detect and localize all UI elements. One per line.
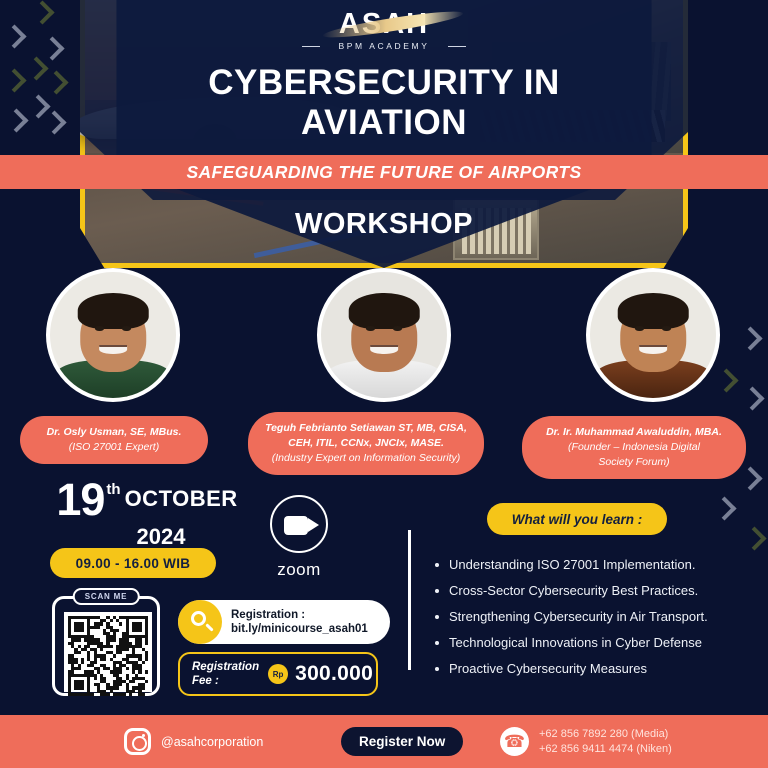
- platform-label: zoom: [266, 560, 332, 580]
- speaker-name: Dr. Osly Usman, SE, MBus.: [32, 425, 196, 440]
- phone-number-2[interactable]: +62 856 9411 4474 (Niken): [539, 742, 672, 757]
- section-divider: [408, 530, 411, 670]
- scan-me-badge: SCAN ME: [73, 588, 140, 605]
- registration-fee-box: Registration Fee : Rp 300.000: [178, 652, 378, 696]
- event-month: OCTOBER: [125, 486, 238, 512]
- instagram-block[interactable]: @asahcorporation: [124, 728, 263, 755]
- avatar: [590, 272, 716, 398]
- instagram-handle[interactable]: @asahcorporation: [161, 735, 263, 749]
- fee-label-line-2: Fee :: [192, 674, 259, 688]
- learning-outcomes-list: Understanding ISO 27001 Implementation. …: [432, 552, 762, 682]
- phone-number-1[interactable]: +62 856 7892 280 (Media): [539, 727, 672, 742]
- speaker-role: (Industry Expert on Information Security…: [260, 451, 472, 466]
- magnifier-icon: [178, 600, 222, 644]
- hero-text-block: ASAH BPM ACADEMY CYBERSECURITY IN AVIATI…: [80, 0, 688, 268]
- contact-block: +62 856 7892 280 (Media) +62 856 9411 44…: [500, 727, 672, 757]
- subtitle-banner: SAFEGUARDING THE FUTURE OF AIRPORTS: [0, 155, 768, 189]
- speaker-name: Teguh Febrianto Setiawan ST, MB, CISA,: [260, 421, 472, 436]
- instagram-icon[interactable]: [124, 728, 151, 755]
- event-date: 19 th OCTOBER 2024: [42, 478, 252, 550]
- speaker-role: (Founder – Indonesia Digital: [534, 440, 734, 455]
- event-type-label: WORKSHOP: [80, 208, 688, 241]
- learn-heading-badge: What will you learn :: [487, 503, 667, 535]
- event-day: 19: [56, 478, 104, 522]
- speaker-role-cont: Society Forum): [534, 455, 734, 470]
- title-line-1: CYBERSECURITY IN: [208, 63, 560, 103]
- subtitle-text: SAFEGUARDING THE FUTURE OF AIRPORTS: [186, 162, 581, 183]
- registration-link-pill[interactable]: Registration : bit.ly/minicourse_asah01: [178, 600, 390, 644]
- fee-amount: 300.000: [295, 662, 373, 686]
- title-line-2: AVIATION: [208, 103, 560, 143]
- speaker-photo-2: [317, 268, 451, 402]
- speaker-caption-2: Teguh Febrianto Setiawan ST, MB, CISA, C…: [248, 412, 484, 475]
- list-item: Proactive Cybersecurity Measures: [432, 656, 762, 682]
- speaker-caption-1: Dr. Osly Usman, SE, MBus. (ISO 27001 Exp…: [20, 416, 208, 464]
- qr-code-frame[interactable]: SCAN ME: [52, 596, 160, 696]
- avatar: [50, 272, 176, 398]
- video-camera-icon: [270, 495, 328, 553]
- event-time-badge: 09.00 - 16.00 WIB: [50, 548, 216, 578]
- speaker-photo-3: [586, 268, 720, 402]
- list-item: Technological Innovations in Cyber Defen…: [432, 630, 762, 656]
- platform-block: zoom: [266, 495, 332, 580]
- speaker-name: Dr. Ir. Muhammad Awaluddin, MBA.: [534, 425, 734, 440]
- currency-badge: Rp: [268, 664, 288, 684]
- qr-code-image[interactable]: [64, 612, 152, 692]
- page-title: CYBERSECURITY IN AVIATION: [208, 63, 560, 143]
- registration-url[interactable]: bit.ly/minicourse_asah01: [231, 622, 368, 636]
- list-item: Cross-Sector Cybersecurity Best Practice…: [432, 578, 762, 604]
- fee-label-line-1: Registration: [192, 660, 259, 674]
- logo-tagline: BPM ACADEMY: [304, 41, 464, 51]
- logo-wordmark: ASAH: [304, 9, 464, 39]
- list-item: Understanding ISO 27001 Implementation.: [432, 552, 762, 578]
- register-now-button[interactable]: Register Now: [341, 727, 463, 756]
- speaker-photo-1: [46, 268, 180, 402]
- list-item: Strengthening Cybersecurity in Air Trans…: [432, 604, 762, 630]
- speaker-caption-3: Dr. Ir. Muhammad Awaluddin, MBA. (Founde…: [522, 416, 746, 479]
- event-poster: ASAH BPM ACADEMY CYBERSECURITY IN AVIATI…: [0, 0, 768, 768]
- event-year: 2024: [42, 524, 252, 550]
- event-day-suffix: th: [106, 481, 120, 498]
- speaker-name-cont: CEH, ITIL, CCNx, JNCIx, MASE.: [260, 436, 472, 451]
- speaker-role: (ISO 27001 Expert): [32, 440, 196, 455]
- registration-label: Registration :: [231, 608, 368, 622]
- avatar: [321, 272, 447, 398]
- footer-bar: @asahcorporation Register Now +62 856 78…: [0, 715, 768, 768]
- asah-logo: ASAH BPM ACADEMY: [304, 9, 464, 53]
- phone-icon: [500, 727, 529, 756]
